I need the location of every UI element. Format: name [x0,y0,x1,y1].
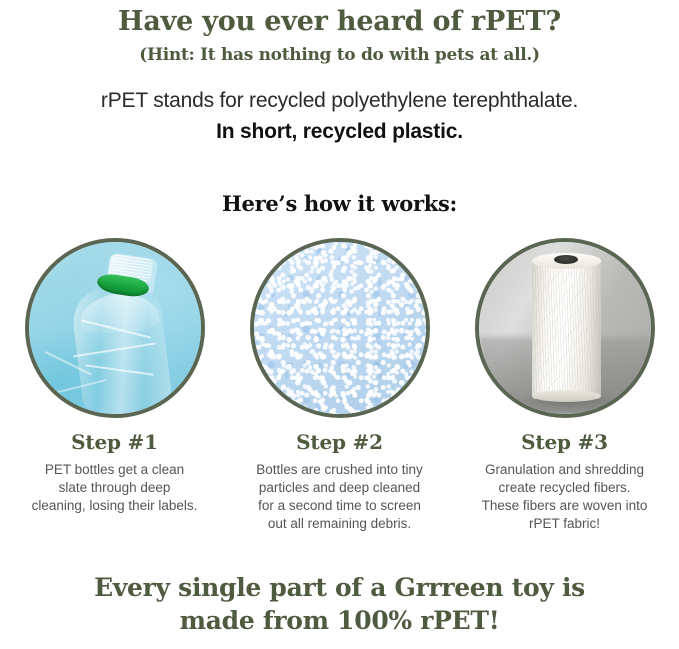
footer-line-1: Every single part of a Grrreen toy is [0,571,679,604]
step-1-caption-line: slate through deep [10,479,219,497]
step-2-caption-line: for a second time to screen [235,497,444,515]
how-it-works-heading: Here’s how it works: [0,191,679,216]
step-1-circle-frame [25,238,205,418]
step-3-title: Step #3 [458,430,671,454]
step-2-caption-line: Bottles are crushed into tiny [235,461,444,479]
step-3-image-wrap [475,238,655,418]
steps-row: Step #1 PET bottles get a clean slate th… [0,238,679,533]
step-3-circle-frame [475,238,655,418]
spool-bottom-rim [532,390,601,402]
step-2-circle-frame [250,238,430,418]
footer-line-2: made from 100% rPET! [0,604,679,637]
step-3-caption-line: create recycled fibers. [460,479,669,497]
step-2-image-wrap [250,238,430,418]
intro-block: rPET stands for recycled polyethylene te… [0,87,679,147]
step-2-caption-line: particles and deep cleaned [235,479,444,497]
step-2-caption: Bottles are crushed into tiny particles … [233,461,446,533]
step-2: Step #2 Bottles are crushed into tiny pa… [233,238,446,533]
step-1-caption-line: cleaning, losing their labels. [10,497,219,515]
header-hint: (Hint: It has nothing to do with pets at… [0,43,679,67]
white-thread-spool-photo [479,242,651,414]
intro-definition: rPET stands for recycled polyethylene te… [0,87,679,115]
page-title: Have you ever heard of rPET? [0,6,679,38]
step-1-image-wrap [25,238,205,418]
step-2-caption-line: out all remaining debris. [235,515,444,533]
step-3-caption: Granulation and shredding create recycle… [458,461,671,533]
infographic-page: Have you ever heard of rPET? (Hint: It h… [0,0,679,649]
step-2-title: Step #2 [233,430,446,454]
spool-core-hole [554,255,578,264]
step-1-caption: PET bottles get a clean slate through de… [8,461,221,515]
step-1: Step #1 PET bottles get a clean slate th… [8,238,221,533]
step-3: Step #3 Granulation and shredding create… [458,238,671,533]
footer-tagline: Every single part of a Grrreen toy is ma… [0,571,679,637]
step-3-caption-line: Granulation and shredding [460,461,669,479]
step-1-caption-line: PET bottles get a clean [10,461,219,479]
header: Have you ever heard of rPET? (Hint: It h… [0,0,679,67]
step-3-caption-line: rPET fabric! [460,515,669,533]
step-3-caption-line: These fibers are woven into [460,497,669,515]
intro-summary: In short, recycled plastic. [0,117,679,147]
step-1-title: Step #1 [8,430,221,454]
spool-thread-body [532,257,601,398]
crushed-pet-bottle-photo [29,242,201,414]
blue-plastic-flakes-photo [254,242,426,414]
